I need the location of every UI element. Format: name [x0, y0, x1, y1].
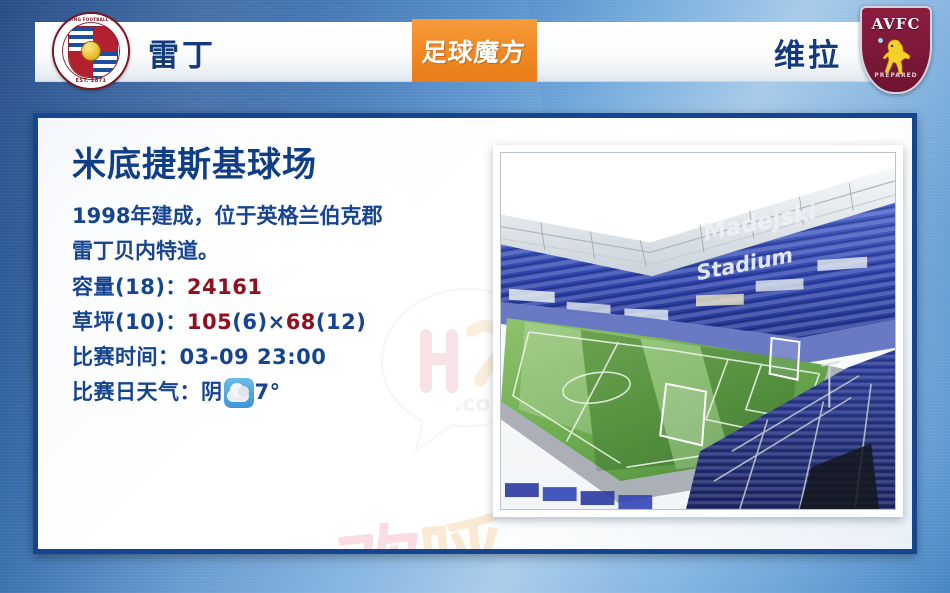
weather-condition: 阴: [201, 375, 223, 410]
stadium-description-line-1: 1998年建成，位于英格兰伯克郡: [72, 199, 502, 234]
stadium-photo: Madejski Stadium: [500, 152, 896, 510]
stadium-info-panel: .co 欢呼 米底捷斯基球场 1998年建成，位于英格兰伯克郡 雷丁贝内特道。 …: [33, 113, 917, 554]
reading-crest-orb: [82, 42, 100, 60]
match-time-value: 03-09 23:00: [180, 345, 327, 369]
stadium-name-title: 米底捷斯基球场: [72, 146, 502, 185]
home-team-name: 雷丁: [148, 30, 216, 75]
cloudy-icon: [224, 378, 254, 408]
reading-crest-caption: EST. 1871: [54, 78, 128, 84]
pitch-row: 草坪(10)：105(6)×68(12): [72, 305, 502, 340]
reading-crest-arc-text: READING FOOTBALL CLUB: [54, 17, 128, 22]
pitch-length-value: 105: [187, 310, 232, 334]
pitch-length-rank: (6): [232, 310, 267, 334]
avfc-initials: AVFC: [862, 15, 930, 33]
temperature-value: 7°: [255, 375, 281, 410]
weather-row: 比赛日天气：阴7°: [72, 375, 502, 410]
avfc-motto: PREPARED: [862, 72, 930, 79]
capacity-label: 容量(18)：: [72, 275, 187, 299]
brand-logo-text: 足球魔方: [421, 33, 528, 69]
away-team-crest: AVFC PREPARED: [860, 6, 932, 94]
match-time-label: 比赛时间：: [72, 345, 180, 369]
pitch-width-rank: (12): [316, 310, 366, 334]
capacity-value: 24161: [187, 275, 263, 299]
home-team-crest: READING FOOTBALL CLUB EST. 1871: [52, 12, 130, 90]
site-brand-logo[interactable]: 足球魔方: [412, 19, 537, 82]
stadium-photo-frame[interactable]: Madejski Stadium: [493, 145, 903, 517]
match-time-row: 比赛时间：03-09 23:00: [72, 340, 502, 375]
weather-label: 比赛日天气：: [72, 375, 201, 410]
pitch-label: 草坪(10)：: [72, 310, 187, 334]
pitch-times-symbol: ×: [268, 310, 286, 334]
stadium-info-column: 米底捷斯基球场 1998年建成，位于英格兰伯克郡 雷丁贝内特道。 容量(18)：…: [72, 146, 502, 411]
app-root: READING FOOTBALL CLUB EST. 1871 雷丁 足球魔方 …: [0, 0, 950, 593]
pitch-width-value: 68: [286, 310, 316, 334]
away-team-name: 维拉: [774, 30, 842, 75]
capacity-row: 容量(18)：24161: [72, 270, 502, 305]
stadium-description-line-2: 雷丁贝内特道。: [72, 234, 502, 269]
